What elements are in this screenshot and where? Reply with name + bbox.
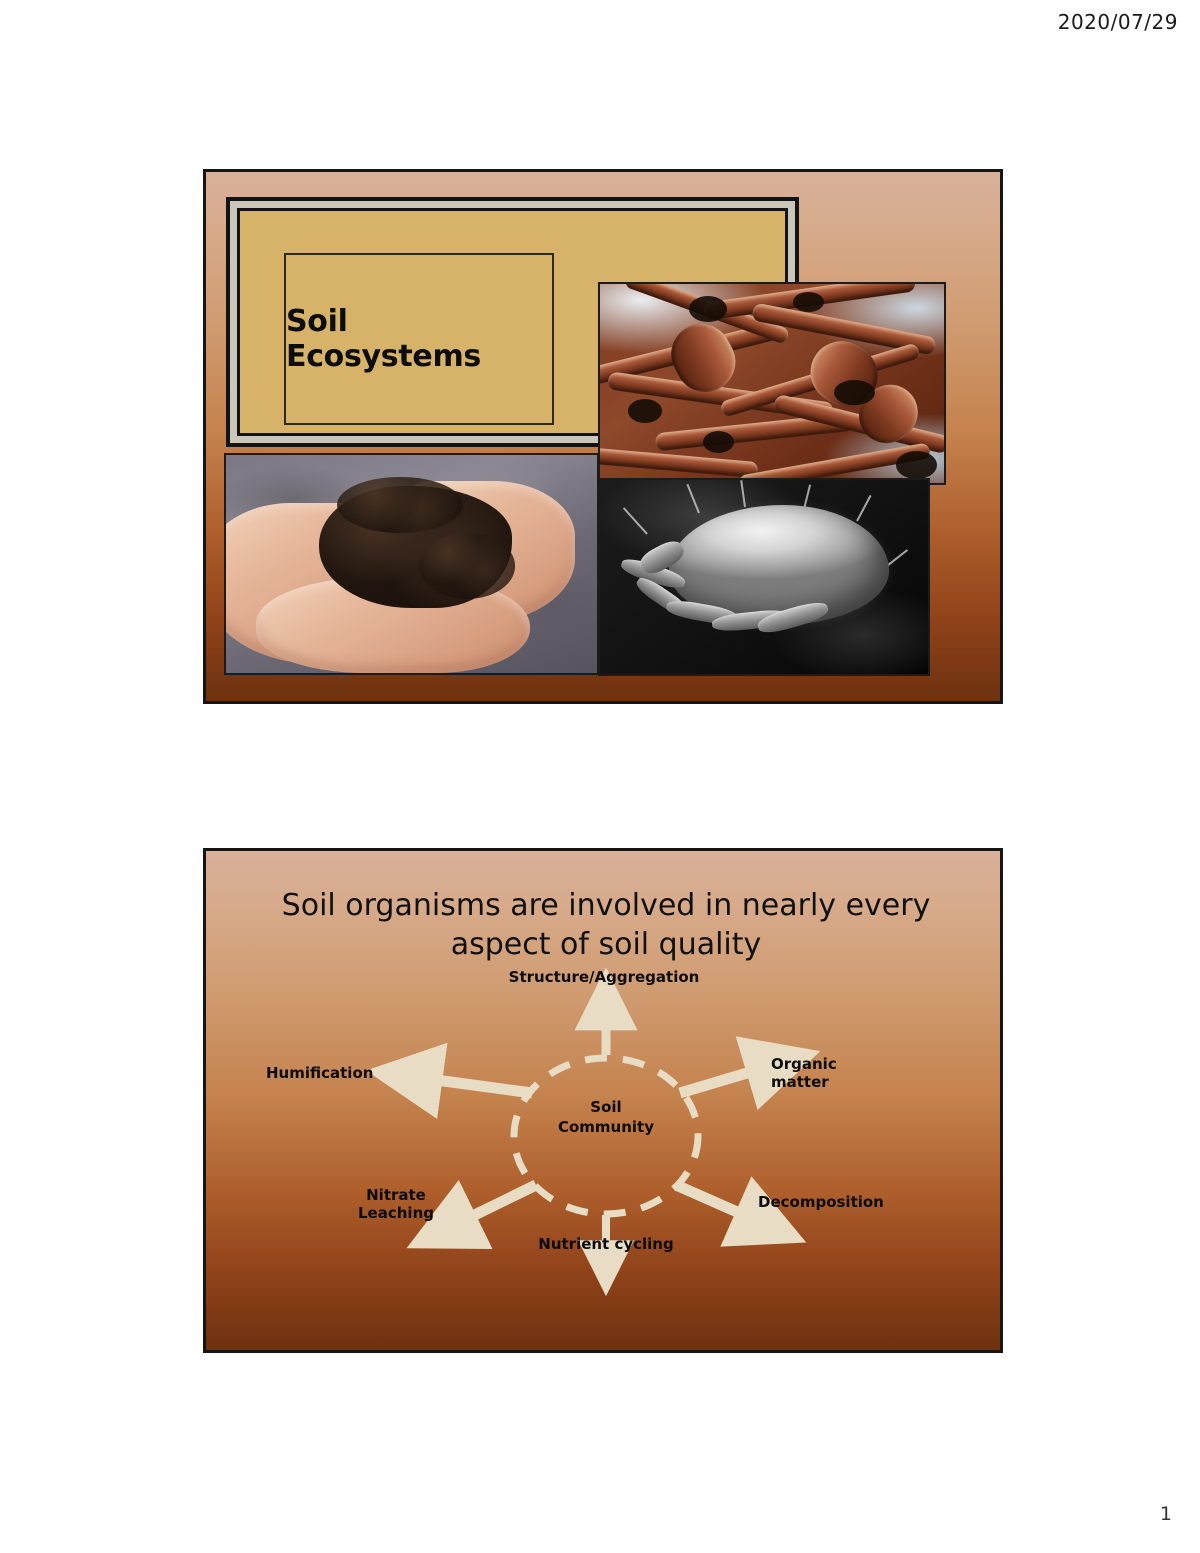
diagram-label-nutrient-cycling: Nutrient cycling bbox=[506, 1236, 706, 1254]
radial-diagram: Structure/Aggregation Organic matter Dec… bbox=[206, 961, 1003, 1353]
diagram-label-structure-aggregation: Structure/Aggregation bbox=[474, 969, 734, 987]
arrow-organic-matter bbox=[680, 1065, 774, 1093]
hands-holding-soil-photo bbox=[224, 453, 599, 675]
earthworms-photo bbox=[598, 282, 946, 485]
slide-2-title-line-1: Soil organisms are involved in nearly ev… bbox=[246, 886, 966, 925]
arrow-decomposition bbox=[676, 1185, 762, 1223]
handout-page: 2020/07/29 Soil Ecosystems bbox=[0, 0, 1200, 1553]
diagram-label-organic-matter: Organic matter bbox=[771, 1056, 921, 1091]
page-number: 1 bbox=[1160, 1503, 1172, 1525]
slide-2-title: Soil organisms are involved in nearly ev… bbox=[246, 886, 966, 964]
slide-soil-quality-diagram: Soil organisms are involved in nearly ev… bbox=[203, 848, 1003, 1353]
diagram-label-humification: Humification bbox=[266, 1065, 456, 1083]
soil-mite-sem-photo bbox=[598, 478, 930, 676]
title-box: Soil Ecosystems bbox=[284, 253, 554, 425]
slide-2-title-line-2: aspect of soil quality bbox=[246, 925, 966, 964]
slide-title: Soil Ecosystems bbox=[286, 304, 552, 374]
diagram-label-nitrate-leaching: Nitrate Leaching bbox=[326, 1187, 466, 1222]
print-date: 2020/07/29 bbox=[1058, 10, 1178, 34]
diagram-label-decomposition: Decomposition bbox=[758, 1194, 938, 1212]
diagram-center-label: Soil Community bbox=[516, 1097, 696, 1138]
diagram-arrows-svg bbox=[206, 961, 1003, 1353]
slide-title-ecosystems: Soil Ecosystems bbox=[203, 169, 1003, 704]
